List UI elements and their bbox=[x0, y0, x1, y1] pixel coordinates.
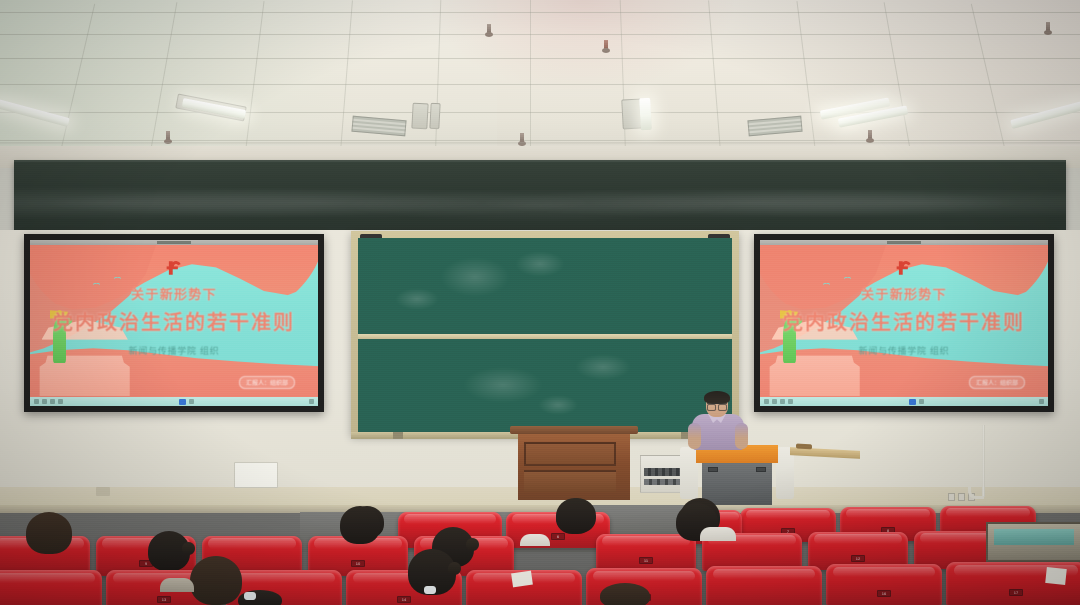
light-fixture-housing bbox=[411, 103, 428, 130]
right-projection-screen[interactable]: 关于新形势下 党内政治生活的若干准则 新闻与传播学院 组织 汇报人：组织部 bbox=[754, 234, 1054, 412]
chalkboard-panel-bottom[interactable] bbox=[358, 339, 732, 432]
slide-taskbar[interactable] bbox=[760, 397, 1048, 406]
teaching-console[interactable] bbox=[688, 445, 786, 505]
podium-panel-lower bbox=[524, 470, 616, 492]
audience-head bbox=[190, 556, 242, 605]
taskbar-spacer bbox=[66, 399, 176, 404]
taskbar-refresh-icon[interactable] bbox=[50, 399, 55, 404]
slide-subtitle-line: 关于新形势下 bbox=[30, 284, 318, 303]
ceiling bbox=[0, 0, 1080, 152]
rack-equipment bbox=[644, 479, 680, 485]
audience-head bbox=[148, 531, 190, 571]
slide-taskbar[interactable] bbox=[30, 397, 318, 406]
slide-badge: 汇报人：组织部 bbox=[969, 376, 1025, 389]
slide-presenter-org: 新闻与传播学院 组织 bbox=[760, 344, 1048, 357]
console-latch[interactable] bbox=[708, 467, 718, 472]
fire-sprinkler bbox=[868, 130, 872, 140]
audience-head bbox=[600, 583, 650, 605]
seat-number-plaque: 16 bbox=[877, 590, 891, 597]
seat-number-plaque: 14 bbox=[397, 596, 411, 603]
face-mask bbox=[424, 586, 436, 594]
taskbar-pen-icon[interactable] bbox=[919, 399, 924, 404]
audience-shoulder bbox=[520, 534, 550, 546]
ccp-emblem-icon bbox=[166, 260, 182, 276]
taskbar-refresh-icon[interactable] bbox=[780, 399, 785, 404]
seat-number-plaque: 12 bbox=[851, 555, 865, 562]
seat-number-plaque: 6 bbox=[551, 533, 565, 540]
wooden-podium[interactable] bbox=[514, 426, 634, 500]
seat-number-plaque: 13 bbox=[157, 596, 171, 603]
slide-badge: 汇报人：组织部 bbox=[239, 376, 295, 389]
fluorescent-strip-light bbox=[639, 98, 652, 131]
aisle-side-cabinet bbox=[986, 522, 1080, 562]
fire-sprinkler bbox=[166, 131, 170, 141]
audience-shoulder bbox=[160, 578, 194, 592]
right-slide-surface: 关于新形势下 党内政治生活的若干准则 新闻与传播学院 组织 汇报人：组织部 bbox=[760, 240, 1048, 406]
taskbar-forward-icon[interactable] bbox=[772, 399, 777, 404]
face-mask bbox=[244, 592, 256, 600]
taskbar-spacer bbox=[927, 399, 1037, 404]
ceiling-tile-grid bbox=[0, 0, 1080, 152]
taskbar-home-icon[interactable] bbox=[788, 399, 793, 404]
seat[interactable] bbox=[0, 570, 102, 605]
green-chalkboard[interactable] bbox=[351, 231, 739, 435]
taskbar-back-icon[interactable] bbox=[764, 399, 769, 404]
taskbar-notes-icon[interactable] bbox=[309, 399, 314, 404]
handout-paper bbox=[1045, 567, 1067, 585]
audience-shoulder bbox=[700, 527, 736, 541]
taskbar-back-icon[interactable] bbox=[34, 399, 39, 404]
slide-presenter-org: 新闻与传播学院 组织 bbox=[30, 344, 318, 357]
fire-sprinkler bbox=[487, 24, 491, 34]
seat[interactable]: 11 bbox=[596, 534, 696, 572]
slide-window-titlebar bbox=[30, 240, 318, 245]
taskbar-slideshow-icon[interactable] bbox=[179, 399, 186, 405]
seat[interactable] bbox=[706, 566, 822, 605]
seat-number-plaque: 10 bbox=[351, 560, 365, 567]
handout-paper bbox=[511, 571, 533, 588]
left-projection-screen[interactable]: 关于新形势下 党内政治生活的若干准则 新闻与传播学院 组织 汇报人：组织部 bbox=[24, 234, 324, 412]
equipment-shelf bbox=[640, 455, 684, 493]
console-body bbox=[702, 463, 772, 505]
bird-icon bbox=[844, 277, 851, 281]
taskbar-pen-icon[interactable] bbox=[189, 399, 194, 404]
console-latch[interactable] bbox=[756, 467, 766, 472]
taskbar-spacer bbox=[197, 399, 307, 404]
valance-sheen bbox=[14, 160, 1066, 238]
slide-subtitle-line: 关于新形势下 bbox=[760, 284, 1048, 303]
slide-title-line: 党内政治生活的若干准则 bbox=[30, 306, 318, 335]
audience-head bbox=[340, 506, 380, 544]
rack-equipment bbox=[644, 468, 680, 476]
chalkboard-panel-top[interactable] bbox=[358, 238, 732, 334]
fire-sprinkler bbox=[1046, 22, 1050, 32]
glasses-icon bbox=[707, 403, 727, 408]
taskbar-slideshow-icon[interactable] bbox=[909, 399, 916, 405]
presenter-arm-right bbox=[735, 423, 748, 449]
wall-notice-sign bbox=[234, 462, 278, 488]
seat[interactable]: 16 bbox=[826, 564, 942, 605]
slide-window-titlebar bbox=[760, 240, 1048, 245]
taskbar-notes-icon[interactable] bbox=[1039, 399, 1044, 404]
podium-top bbox=[510, 426, 638, 434]
left-slide-surface: 关于新形势下 党内政治生活的若干准则 新闻与传播学院 组织 汇报人：组织部 bbox=[30, 240, 318, 406]
presenter-arm-left bbox=[688, 423, 701, 449]
ceiling-seam bbox=[0, 142, 1080, 145]
seat-number-plaque: 11 bbox=[639, 557, 653, 564]
audience-head bbox=[558, 498, 596, 533]
podium-panel-upper bbox=[524, 442, 616, 466]
fire-sprinkler bbox=[604, 40, 608, 50]
lecture-hall-photo: 关于新形势下 党内政治生活的若干准则 新闻与传播学院 组织 汇报人：组织部 bbox=[0, 0, 1080, 605]
slide-title-line: 党内政治生活的若干准则 bbox=[760, 306, 1048, 335]
presenter bbox=[690, 393, 746, 449]
projector-screen-valance bbox=[14, 160, 1066, 238]
audience-head bbox=[26, 512, 72, 554]
bird-icon bbox=[114, 277, 121, 281]
wall-socket bbox=[96, 487, 110, 496]
taskbar-spacer bbox=[796, 399, 906, 404]
seat-number-plaque: 17 bbox=[1009, 589, 1023, 596]
taskbar-home-icon[interactable] bbox=[58, 399, 63, 404]
wall-pipe-elbow bbox=[968, 487, 984, 499]
ccp-emblem-icon bbox=[896, 260, 912, 276]
taskbar-forward-icon[interactable] bbox=[42, 399, 47, 404]
light-fixture-housing bbox=[429, 103, 440, 129]
